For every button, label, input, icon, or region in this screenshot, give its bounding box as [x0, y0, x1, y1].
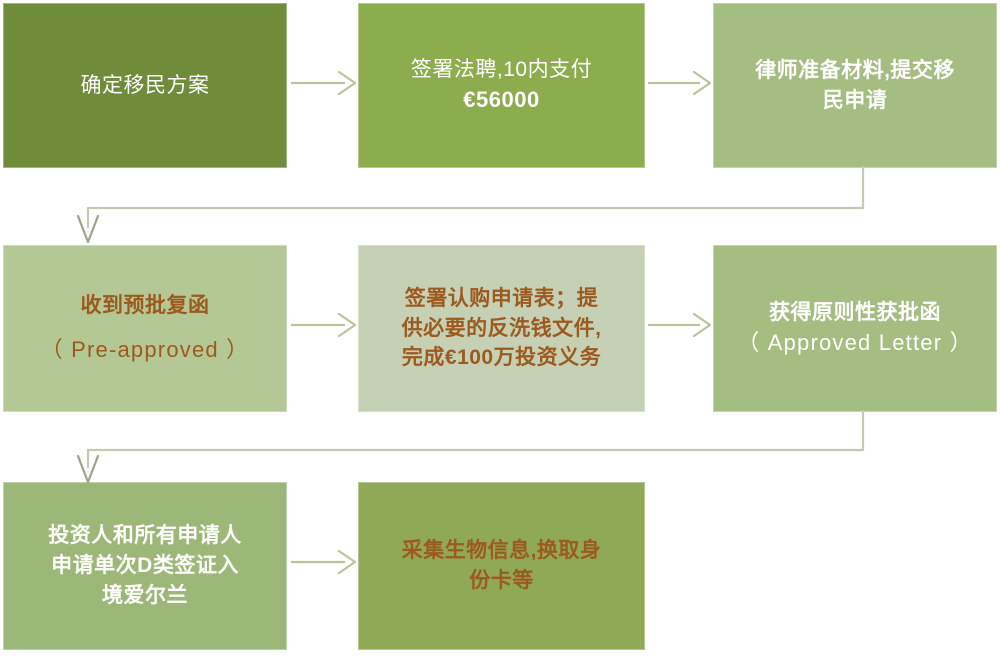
node-5-line-3: 完成€100万投资义务	[370, 343, 633, 373]
arrow-node1-to-node2-icon	[287, 55, 359, 111]
process-node-5[interactable]: 签署认购申请表；提 供必要的反洗钱文件, 完成€100万投资义务	[358, 245, 645, 412]
process-node-2[interactable]: 签署法聘,10内支付 €56000	[358, 3, 645, 168]
node-6-line-1: 获得原则性获批函	[725, 298, 985, 328]
arrow-node4-to-node5-icon	[287, 297, 359, 353]
process-node-4[interactable]: 收到预批复函 （ Pre-approved ）	[3, 245, 287, 412]
arrow-node6-to-node7-icon	[70, 410, 930, 486]
node-3-line-2: 民申请	[725, 86, 985, 116]
node-2-line-1: 签署法聘,10内支付	[370, 55, 633, 85]
arrow-node3-to-node4-icon	[70, 166, 930, 248]
node-4-subtitle: （ Pre-approved ）	[15, 334, 275, 366]
node-3-line-1: 律师准备材料,提交移	[725, 56, 985, 86]
node-2-amount: €56000	[370, 84, 633, 116]
process-node-1[interactable]: 确定移民方案	[3, 3, 287, 168]
node-1-line-1: 确定移民方案	[15, 71, 275, 101]
node-8-line-2: 份卡等	[370, 566, 633, 596]
node-5-line-2: 供必要的反洗钱文件,	[370, 314, 633, 344]
node-6-subtitle: （ Approved Letter ）	[725, 327, 985, 359]
node-8-line-1: 采集生物信息,换取身	[370, 536, 633, 566]
process-node-7[interactable]: 投资人和所有申请人 申请单次D类签证入 境爱尔兰	[3, 482, 287, 650]
node-7-line-1: 投资人和所有申请人	[15, 521, 275, 551]
flowchart-canvas: 确定移民方案 签署法聘,10内支付 €56000 律师准备材料,提交移 民申请 …	[0, 0, 1000, 656]
arrow-node7-to-node8-icon	[287, 534, 359, 590]
node-7-line-3: 境爱尔兰	[15, 581, 275, 611]
arrow-node5-to-node6-icon	[645, 297, 714, 353]
process-node-3[interactable]: 律师准备材料,提交移 民申请	[713, 3, 997, 168]
node-4-line-1: 收到预批复函	[15, 291, 275, 321]
arrow-node2-to-node3-icon	[645, 55, 714, 111]
process-node-8[interactable]: 采集生物信息,换取身 份卡等	[358, 482, 645, 650]
node-7-line-2: 申请单次D类签证入	[15, 551, 275, 581]
process-node-6[interactable]: 获得原则性获批函 （ Approved Letter ）	[713, 245, 997, 412]
node-5-line-1: 签署认购申请表；提	[370, 284, 633, 314]
